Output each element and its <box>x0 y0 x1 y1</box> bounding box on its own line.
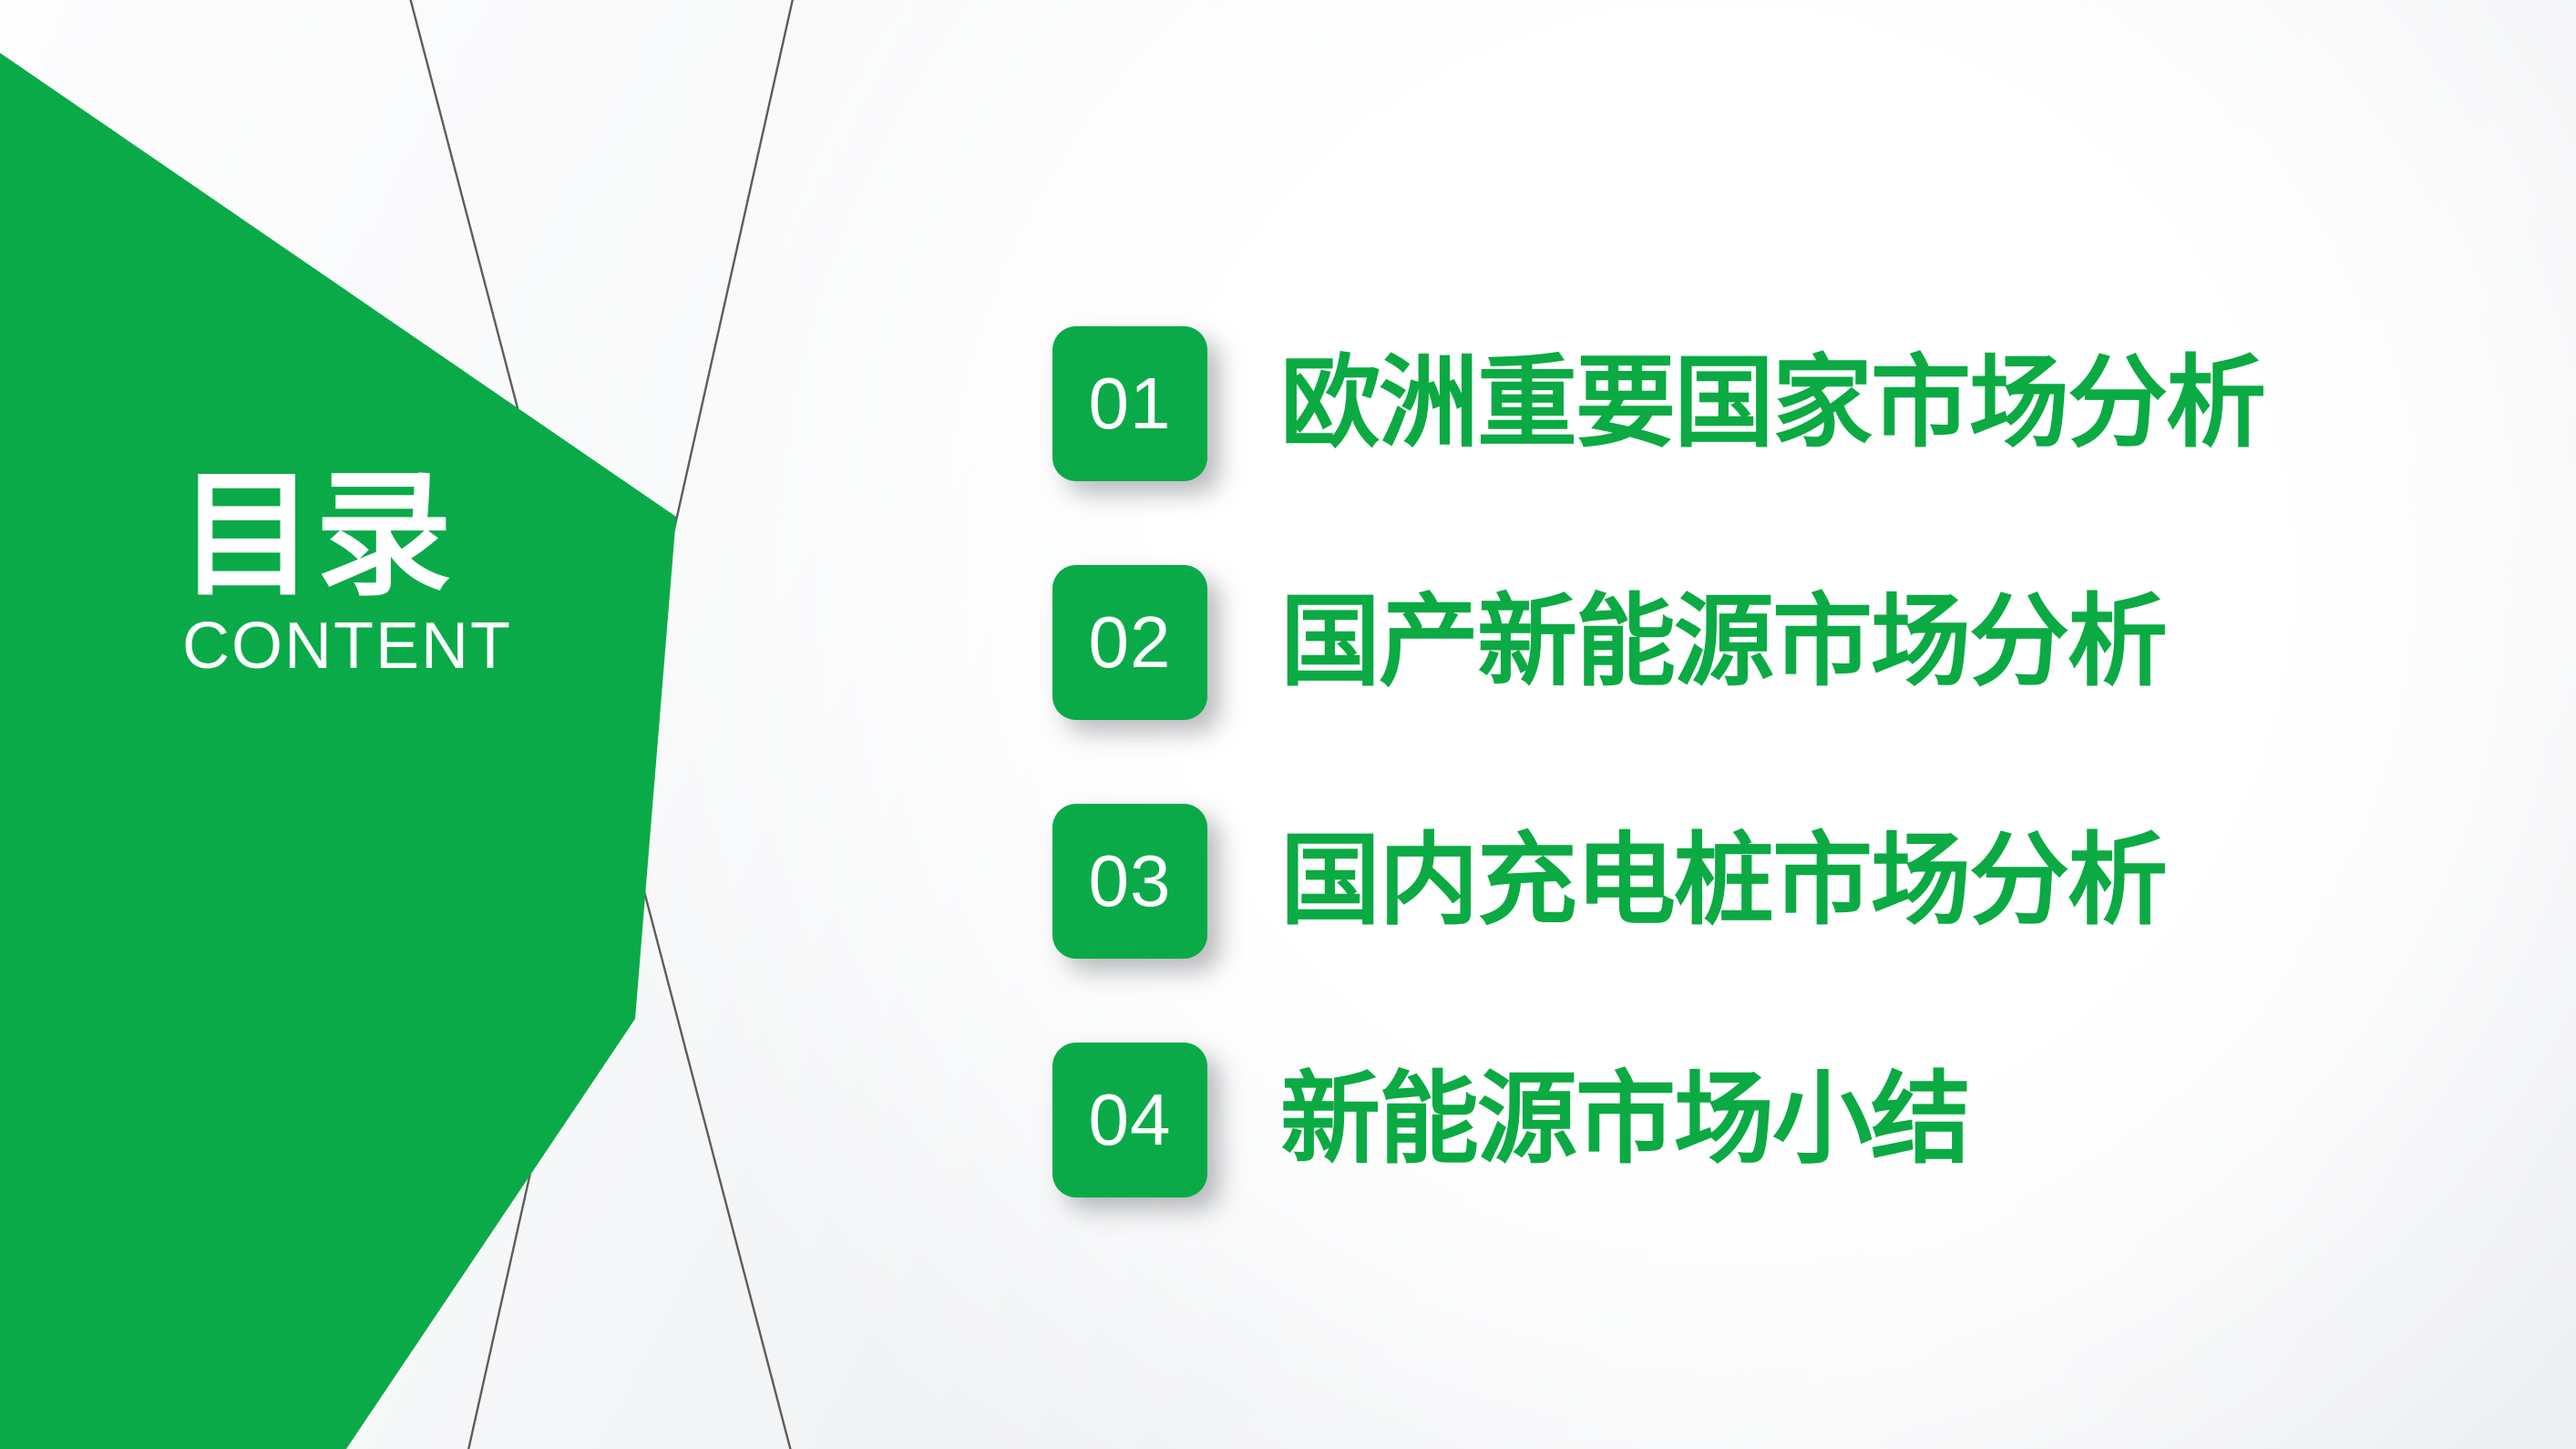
contents-item-01[interactable]: 01 欧洲重要国家市场分析 <box>1052 326 2419 481</box>
contents-item-label-01[interactable]: 欧洲重要国家市场分析 <box>1280 354 2264 454</box>
number-badge-03[interactable]: 03 <box>1052 804 1207 959</box>
number-badge-label: 01 <box>1089 367 1172 440</box>
contents-item-03[interactable]: 03 国内充电桩市场分析 <box>1052 804 2419 959</box>
page-title: 目录 <box>179 467 652 603</box>
slide-canvas: 目录 CONTENT 01 欧洲重要国家市场分析 02 国产新能源市场分析 03… <box>0 0 2576 1449</box>
number-badge-label: 03 <box>1089 845 1172 918</box>
page-subtitle: CONTENT <box>182 612 652 682</box>
contents-item-label-03[interactable]: 国内充电桩市场分析 <box>1280 831 2166 931</box>
contents-item-04[interactable]: 04 新能源市场小结 <box>1052 1043 2419 1197</box>
title-block: 目录 CONTENT <box>179 467 652 682</box>
number-badge-01[interactable]: 01 <box>1052 326 1207 481</box>
number-badge-04[interactable]: 04 <box>1052 1043 1207 1197</box>
contents-list: 01 欧洲重要国家市场分析 02 国产新能源市场分析 03 国内充电桩市场分析 … <box>1052 326 2419 1197</box>
contents-item-label-04[interactable]: 新能源市场小结 <box>1280 1070 1969 1170</box>
number-badge-02[interactable]: 02 <box>1052 565 1207 720</box>
contents-item-label-02[interactable]: 国产新能源市场分析 <box>1280 592 2166 693</box>
number-badge-label: 02 <box>1089 606 1172 679</box>
contents-item-02[interactable]: 02 国产新能源市场分析 <box>1052 565 2419 720</box>
number-badge-label: 04 <box>1089 1084 1172 1156</box>
